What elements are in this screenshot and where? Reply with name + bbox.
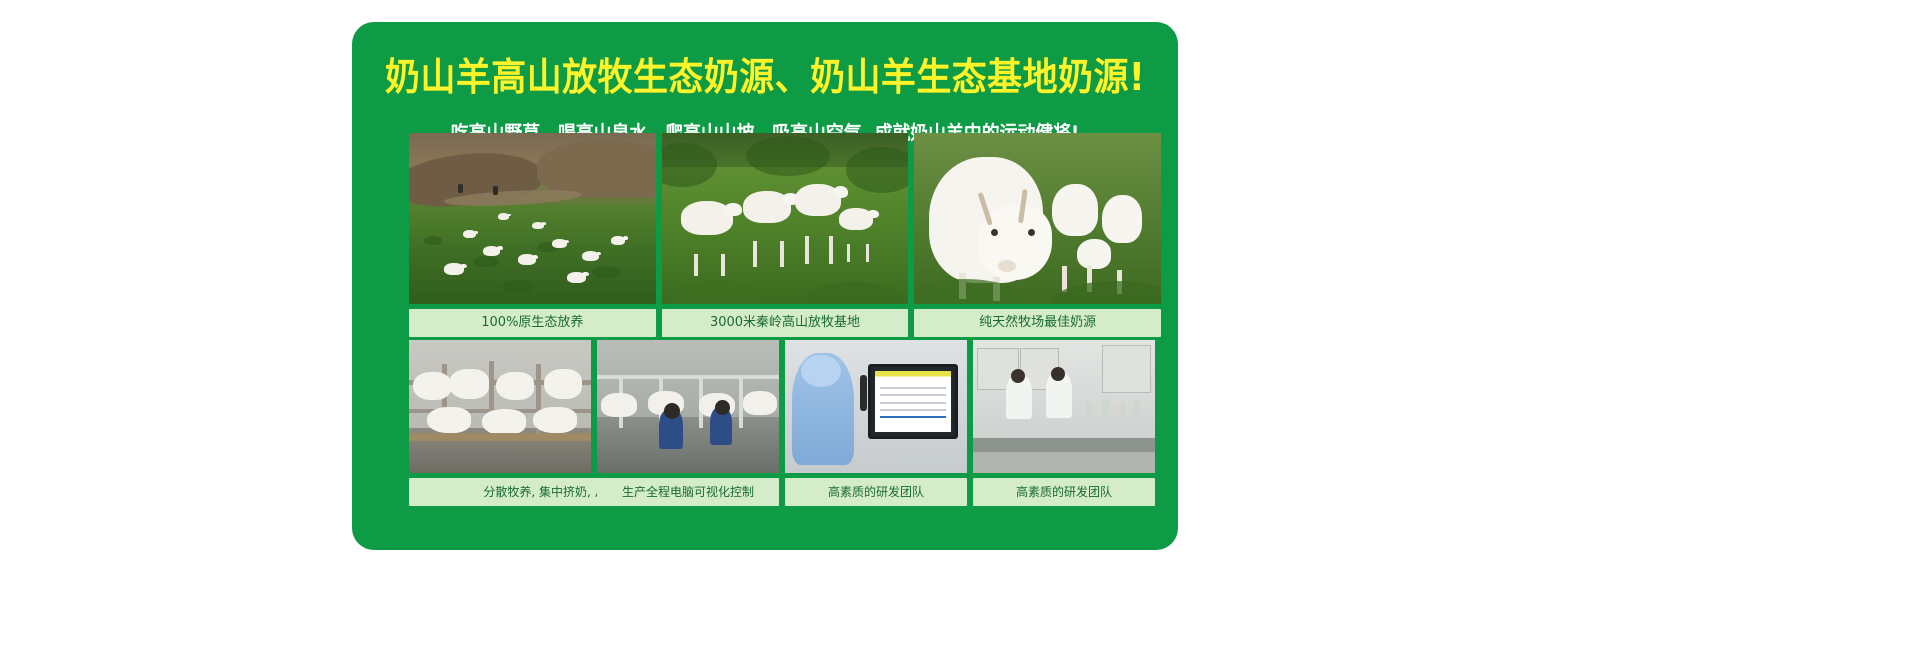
gallery-cell[interactable]: 高素质的研发团队 bbox=[785, 340, 967, 506]
gallery-cell[interactable]: 100%原生态放养 bbox=[409, 133, 656, 337]
gallery-cell[interactable]: 纯天然牧场最佳奶源 bbox=[914, 133, 1161, 337]
milking-parlour-photo bbox=[597, 340, 779, 473]
grazing-goats-meadow-photo bbox=[662, 133, 909, 304]
banner-stage: 奶山羊高山放牧生态奶源、奶山羊生态基地奶源! 吃高山野草、喝高山泉水、爬高山山坡… bbox=[0, 0, 1920, 670]
photo-caption: 3000米秦岭高山放牧基地 bbox=[662, 309, 909, 337]
gallery-cell[interactable]: 分散牧养, 集中挤奶, 从源头解决羊膻问题 bbox=[409, 340, 591, 506]
photo-caption: 高素质的研发团队 bbox=[785, 478, 967, 506]
photo-caption: 生产全程电脑可视化控制 bbox=[597, 478, 779, 506]
laboratory-team-photo bbox=[973, 340, 1155, 473]
goat-family-closeup-photo bbox=[914, 133, 1161, 304]
page-title: 奶山羊高山放牧生态奶源、奶山羊生态基地奶源! bbox=[385, 55, 1145, 99]
gallery-top-row: 100%原生态放养 bbox=[409, 133, 1161, 337]
gallery-cell[interactable]: 3000米秦岭高山放牧基地 bbox=[662, 133, 909, 337]
gallery-cell[interactable]: 高素质的研发团队 bbox=[973, 340, 1155, 506]
computer-control-station-photo bbox=[785, 340, 967, 473]
gallery-cell[interactable]: 生产全程电脑可视化控制 bbox=[597, 340, 779, 506]
photo-caption: 高素质的研发团队 bbox=[973, 478, 1155, 506]
photo-caption: 100%原生态放养 bbox=[409, 309, 656, 337]
green-banner-panel: 奶山羊高山放牧生态奶源、奶山羊生态基地奶源! 吃高山野草、喝高山泉水、爬高山山坡… bbox=[352, 22, 1178, 550]
mountain-pasture-herd-photo bbox=[409, 133, 656, 304]
photo-caption: 纯天然牧场最佳奶源 bbox=[914, 309, 1161, 337]
gallery-bottom-row: 分散牧养, 集中挤奶, 从源头解决羊膻问题 bbox=[409, 340, 1161, 506]
feeding-barn-goats-photo bbox=[409, 340, 591, 473]
